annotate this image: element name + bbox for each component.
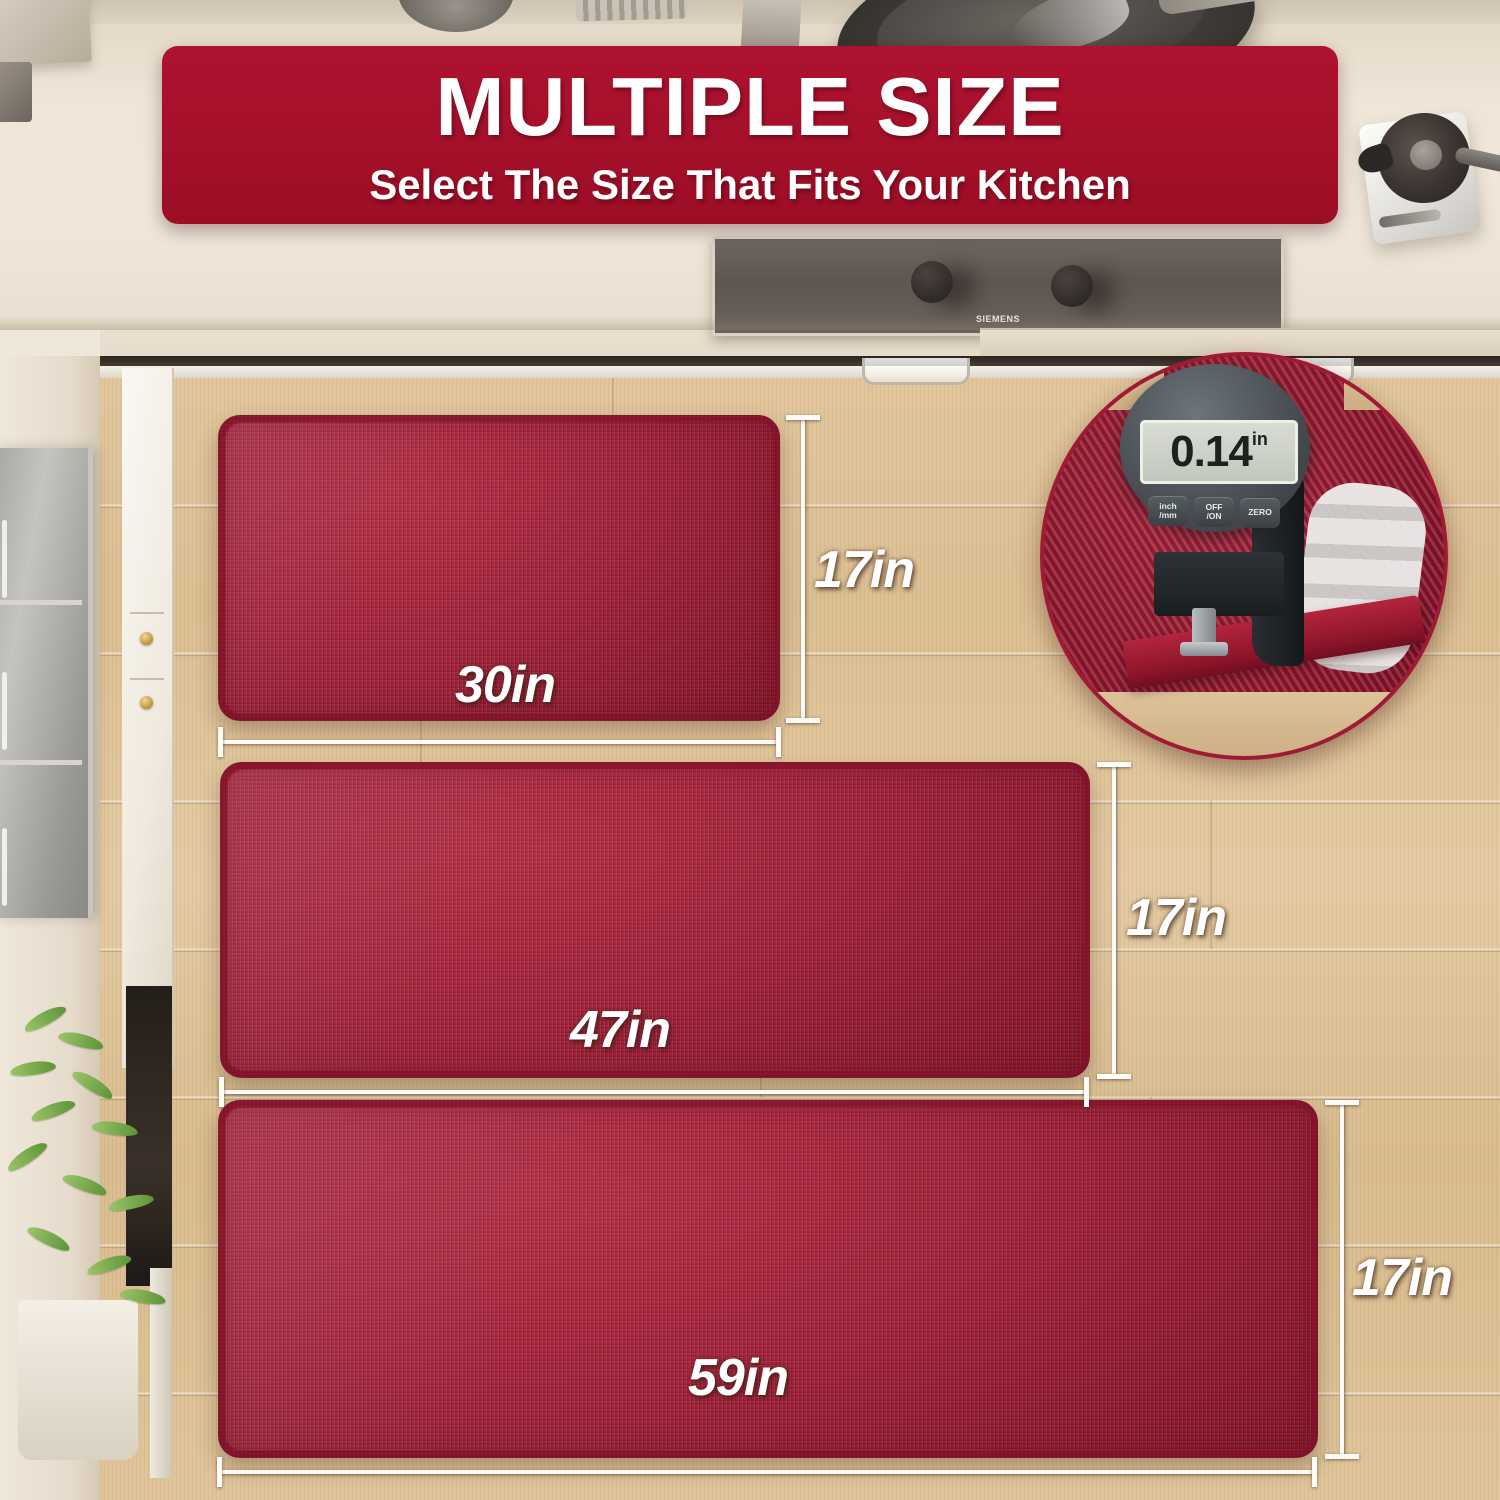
- dim-cap-left-30in: [218, 727, 223, 757]
- callout-floor-bottom: [1040, 692, 1448, 760]
- banner-subtitle: Select The Size That Fits Your Kitchen: [369, 164, 1131, 206]
- cabinet-panel-line: [130, 612, 164, 614]
- dim-line-width-47in: [222, 1090, 1088, 1094]
- white-cabinet-column: [122, 368, 174, 1068]
- cabinet-panel-line: [130, 678, 164, 680]
- stainless-appliance: [0, 448, 93, 918]
- product-infographic: SIEMENS: [0, 0, 1500, 1500]
- appliance-divider: [0, 760, 82, 765]
- cooktop-burner-right: [1051, 265, 1093, 307]
- dim-cap-right-47in: [1084, 1077, 1089, 1107]
- dim-cap-bottom-30in: [786, 718, 820, 723]
- appliance-handle[interactable]: [2, 520, 7, 598]
- counter-prop-box-secondary: [0, 62, 32, 122]
- dim-cap-top-30in: [786, 415, 820, 420]
- dim-line-height-59in: [1340, 1103, 1344, 1458]
- gauge-button-inch-mm[interactable]: inch /mm: [1148, 496, 1188, 526]
- gauge-button-line2: /ON: [1206, 512, 1221, 521]
- cooktop-burner-left: [911, 261, 953, 303]
- dim-cap-left-59in: [217, 1457, 222, 1487]
- appliance-divider: [0, 600, 82, 605]
- brass-knob[interactable]: [140, 632, 153, 645]
- dim-line-width-30in: [220, 740, 780, 744]
- gauge-body: [1154, 552, 1284, 616]
- dim-line-height-30in: [801, 418, 805, 722]
- appliance-handle[interactable]: [2, 672, 7, 750]
- kettle-lid-knob: [1410, 140, 1442, 170]
- dim-label-height-59in: 17in: [1352, 1248, 1452, 1308]
- counter-grater: [576, 0, 687, 21]
- dim-label-width-59in: 59in: [688, 1348, 788, 1408]
- thickness-callout-circle: 0.14 in inch /mm OFF /ON ZERO: [1040, 352, 1448, 760]
- oven-opening: [126, 986, 172, 1286]
- dim-label-height-30in: 17in: [814, 540, 914, 600]
- gauge-value-text: 0.14: [1170, 430, 1252, 474]
- gauge-spindle-foot: [1180, 642, 1228, 656]
- brass-knob[interactable]: [140, 696, 153, 709]
- dim-label-width-30in: 30in: [455, 655, 555, 715]
- gauge-button-off-on[interactable]: OFF /ON: [1194, 497, 1234, 527]
- plant-pot: [18, 1300, 138, 1460]
- dim-label-height-47in: 17in: [1126, 888, 1226, 948]
- dim-label-width-47in: 47in: [570, 1000, 670, 1060]
- dim-cap-bottom-59in: [1325, 1454, 1359, 1459]
- appliance-handle[interactable]: [2, 828, 7, 906]
- counter-prop-box: [0, 0, 92, 66]
- dim-cap-right-30in: [776, 727, 781, 757]
- cabinet-handle[interactable]: [862, 358, 970, 385]
- gauge-button-line2: /mm: [1159, 511, 1176, 520]
- counter-shadow-line: [0, 316, 1500, 330]
- gauge-button-zero[interactable]: ZERO: [1240, 498, 1280, 528]
- callout-floor-corner: [1344, 352, 1448, 410]
- dim-line-width-59in: [220, 1470, 1316, 1474]
- dim-cap-bottom-47in: [1097, 1074, 1131, 1079]
- dim-line-height-47in: [1112, 765, 1116, 1078]
- dim-cap-left-47in: [219, 1077, 224, 1107]
- dim-cap-top-47in: [1097, 762, 1131, 767]
- headline-banner: MULTIPLE SIZE Select The Size That Fits …: [162, 46, 1338, 224]
- gauge-display: 0.14 in: [1140, 420, 1298, 484]
- banner-title: MULTIPLE SIZE: [435, 65, 1064, 148]
- gauge-unit-text: in: [1252, 429, 1268, 450]
- gauge-button-line1: ZERO: [1248, 508, 1272, 517]
- dim-cap-right-59in: [1312, 1457, 1317, 1487]
- dim-cap-top-59in: [1325, 1100, 1359, 1105]
